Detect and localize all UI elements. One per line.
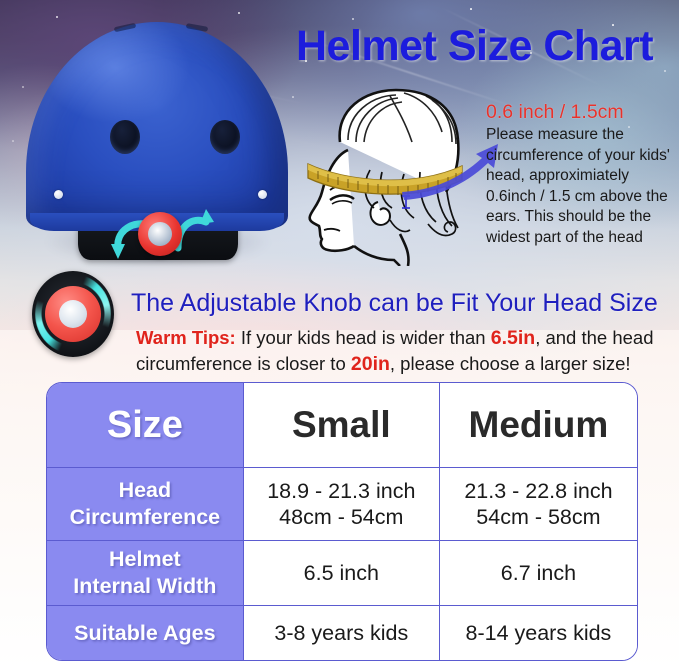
warm-tips-part1: If your kids head is wider than — [236, 327, 491, 348]
helmet-top-vent-slot — [114, 23, 137, 32]
helmet-vent-hole — [110, 120, 140, 154]
head-profile-measuring-icon — [286, 84, 498, 266]
helmet-top-vent-slot — [186, 23, 209, 32]
helmet-rivet — [258, 190, 267, 199]
cell-small-head-circumference: 18.9 - 21.3 inch 48cm - 54cm — [244, 468, 440, 541]
helmet-adjust-knob-center — [148, 222, 172, 246]
table-header-size: Size — [47, 383, 244, 468]
row-label-line1: Head — [48, 477, 242, 504]
helmet-vent-hole — [210, 120, 240, 154]
helmet-rivet — [54, 190, 63, 199]
knob-dial — [45, 286, 101, 342]
row-label-line2: Circumference — [48, 504, 242, 531]
row-label-suitable-ages: Suitable Ages — [47, 606, 244, 660]
cell-medium-internal-width: 6.7 inch — [440, 541, 637, 606]
warm-tips-part3: , please choose a larger size! — [390, 353, 631, 374]
warm-tips-label: Warm Tips: — [136, 327, 236, 348]
measure-instruction-text: Please measure the circumference of your… — [486, 125, 678, 248]
measure-instruction-block: 0.6 inch / 1.5cm Please measure the circ… — [486, 100, 678, 248]
adjustable-knob-icon — [32, 271, 114, 357]
helmet-adjust-knob — [138, 212, 182, 256]
knob-center-cap — [59, 300, 87, 328]
cell-small-suitable-ages: 3-8 years kids — [244, 606, 440, 660]
measure-offset-highlight: 0.6 inch / 1.5cm — [486, 100, 678, 124]
warm-tips-circumference-value: 20in — [351, 353, 390, 375]
cell-line-inch: 21.3 - 22.8 inch — [441, 478, 636, 504]
cell-line-cm: 54cm - 58cm — [441, 504, 636, 530]
adjustable-knob-headline: The Adjustable Knob can be Fit Your Head… — [131, 289, 658, 318]
warm-tips-text: Warm Tips: If your kids head is wider th… — [136, 325, 670, 377]
cell-small-internal-width: 6.5 inch — [244, 541, 440, 606]
page-title: Helmet Size Chart — [296, 22, 653, 71]
cell-medium-head-circumference: 21.3 - 22.8 inch 54cm - 58cm — [440, 468, 637, 541]
table-row-head-circumference: Head Circumference 18.9 - 21.3 inch 48cm… — [47, 468, 637, 541]
cell-medium-suitable-ages: 8-14 years kids — [440, 606, 637, 660]
row-label-line2: Internal Width — [48, 573, 242, 600]
table-row-suitable-ages: Suitable Ages 3-8 years kids 8-14 years … — [47, 606, 637, 660]
cell-line-inch: 18.9 - 21.3 inch — [245, 478, 438, 504]
cell-line-cm: 48cm - 54cm — [245, 504, 438, 530]
row-label-head-circumference: Head Circumference — [47, 468, 244, 541]
table-header-row: Size Small Medium — [47, 383, 637, 468]
table-row-helmet-internal-width: Helmet Internal Width 6.5 inch 6.7 inch — [47, 541, 637, 606]
row-label-line1: Helmet — [48, 546, 242, 573]
size-chart-table: Size Small Medium Head Circumference 18.… — [46, 382, 638, 661]
table-header-small: Small — [244, 383, 440, 468]
helmet-icon — [18, 22, 296, 278]
warm-tips-width-value: 6.5in — [491, 327, 535, 349]
helmet-shell — [26, 22, 288, 228]
row-label-helmet-internal-width: Helmet Internal Width — [47, 541, 244, 606]
table-header-medium: Medium — [440, 383, 637, 468]
helmet-size-chart-infographic: Helmet Size Chart — [0, 0, 679, 670]
